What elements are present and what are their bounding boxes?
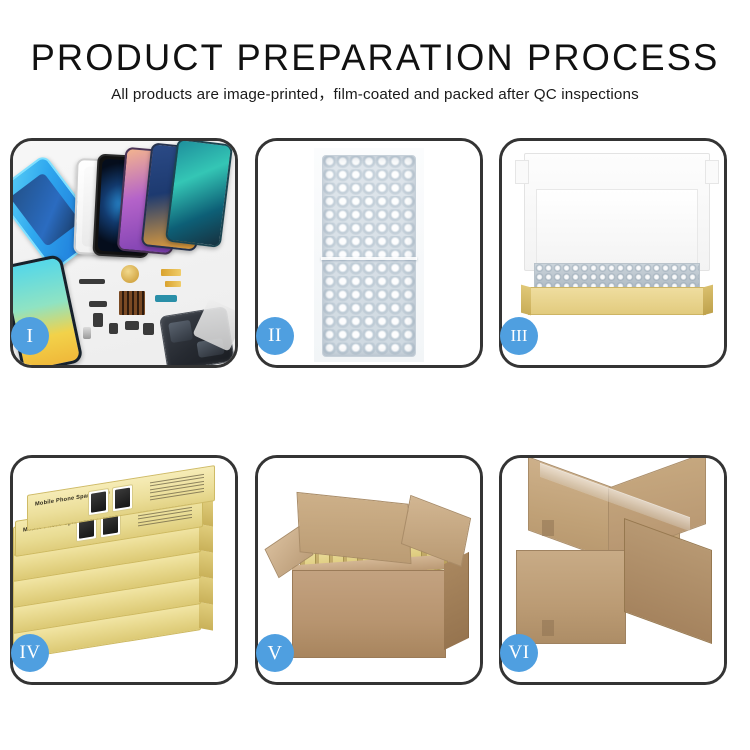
part-bracket-1 — [89, 301, 107, 307]
open-shipping-carton — [276, 492, 468, 664]
process-steps-grid: I II III — [10, 138, 740, 685]
carton-seam-top — [542, 520, 554, 536]
box-artwork-phone-2 — [112, 484, 133, 512]
sealed-shipping-carton — [512, 484, 716, 662]
foam-padding — [536, 189, 698, 265]
box-spec-lines — [150, 474, 204, 503]
process-row-bottom: Mobile Phone Spare Parts Mobile Phone Sp… — [10, 455, 740, 685]
step-badge-5: V — [256, 634, 294, 672]
part-screw-tray — [119, 291, 145, 315]
spare-parts-cluster — [75, 261, 235, 365]
process-step-panel-2[interactable]: II — [255, 138, 483, 368]
part-teal-flex — [155, 295, 177, 302]
page-subtitle: All products are image-printed，film-coat… — [0, 84, 750, 106]
process-step-panel-1[interactable]: I — [10, 138, 238, 368]
carton-front — [292, 570, 446, 658]
step-badge-3: III — [500, 317, 538, 355]
part-sim-tray — [83, 327, 91, 339]
part-speaker-mesh — [79, 279, 105, 284]
carton-seam-bottom — [542, 620, 554, 636]
part-camera-module — [125, 321, 139, 330]
carton-side-face — [624, 518, 712, 644]
bubble-wrap — [322, 155, 416, 357]
page-title: PRODUCT PREPARATION PROCESS — [8, 36, 743, 80]
process-step-panel-3[interactable]: III — [499, 138, 727, 368]
carton-flap-back — [297, 492, 412, 564]
wrap-seam — [321, 257, 417, 260]
step-badge-4: IV — [11, 634, 49, 672]
process-step-panel-6[interactable]: VI — [499, 455, 727, 685]
part-taptic — [143, 323, 154, 335]
part-bracket-2 — [93, 313, 103, 327]
step-badge-6: VI — [500, 634, 538, 672]
kraft-inner-box — [528, 287, 706, 315]
part-button — [109, 323, 118, 334]
carton-side — [444, 552, 469, 650]
product-preparation-page: PRODUCT PREPARATION PROCESS All products… — [0, 0, 750, 750]
step-badge-1: I — [11, 317, 49, 355]
process-row-top: I II III — [10, 138, 740, 368]
part-flex-cable-2 — [165, 281, 181, 287]
phone-screen-teal — [165, 141, 233, 248]
step-badge-2: II — [256, 317, 294, 355]
part-flex-cable-1 — [161, 269, 181, 276]
part-gold-coil — [121, 265, 139, 283]
box-artwork-phone-1 — [88, 488, 109, 516]
carton-front-face — [516, 550, 626, 644]
process-step-panel-5[interactable]: V — [255, 455, 483, 685]
process-step-panel-4[interactable]: Mobile Phone Spare Parts Mobile Phone Sp… — [10, 455, 238, 685]
